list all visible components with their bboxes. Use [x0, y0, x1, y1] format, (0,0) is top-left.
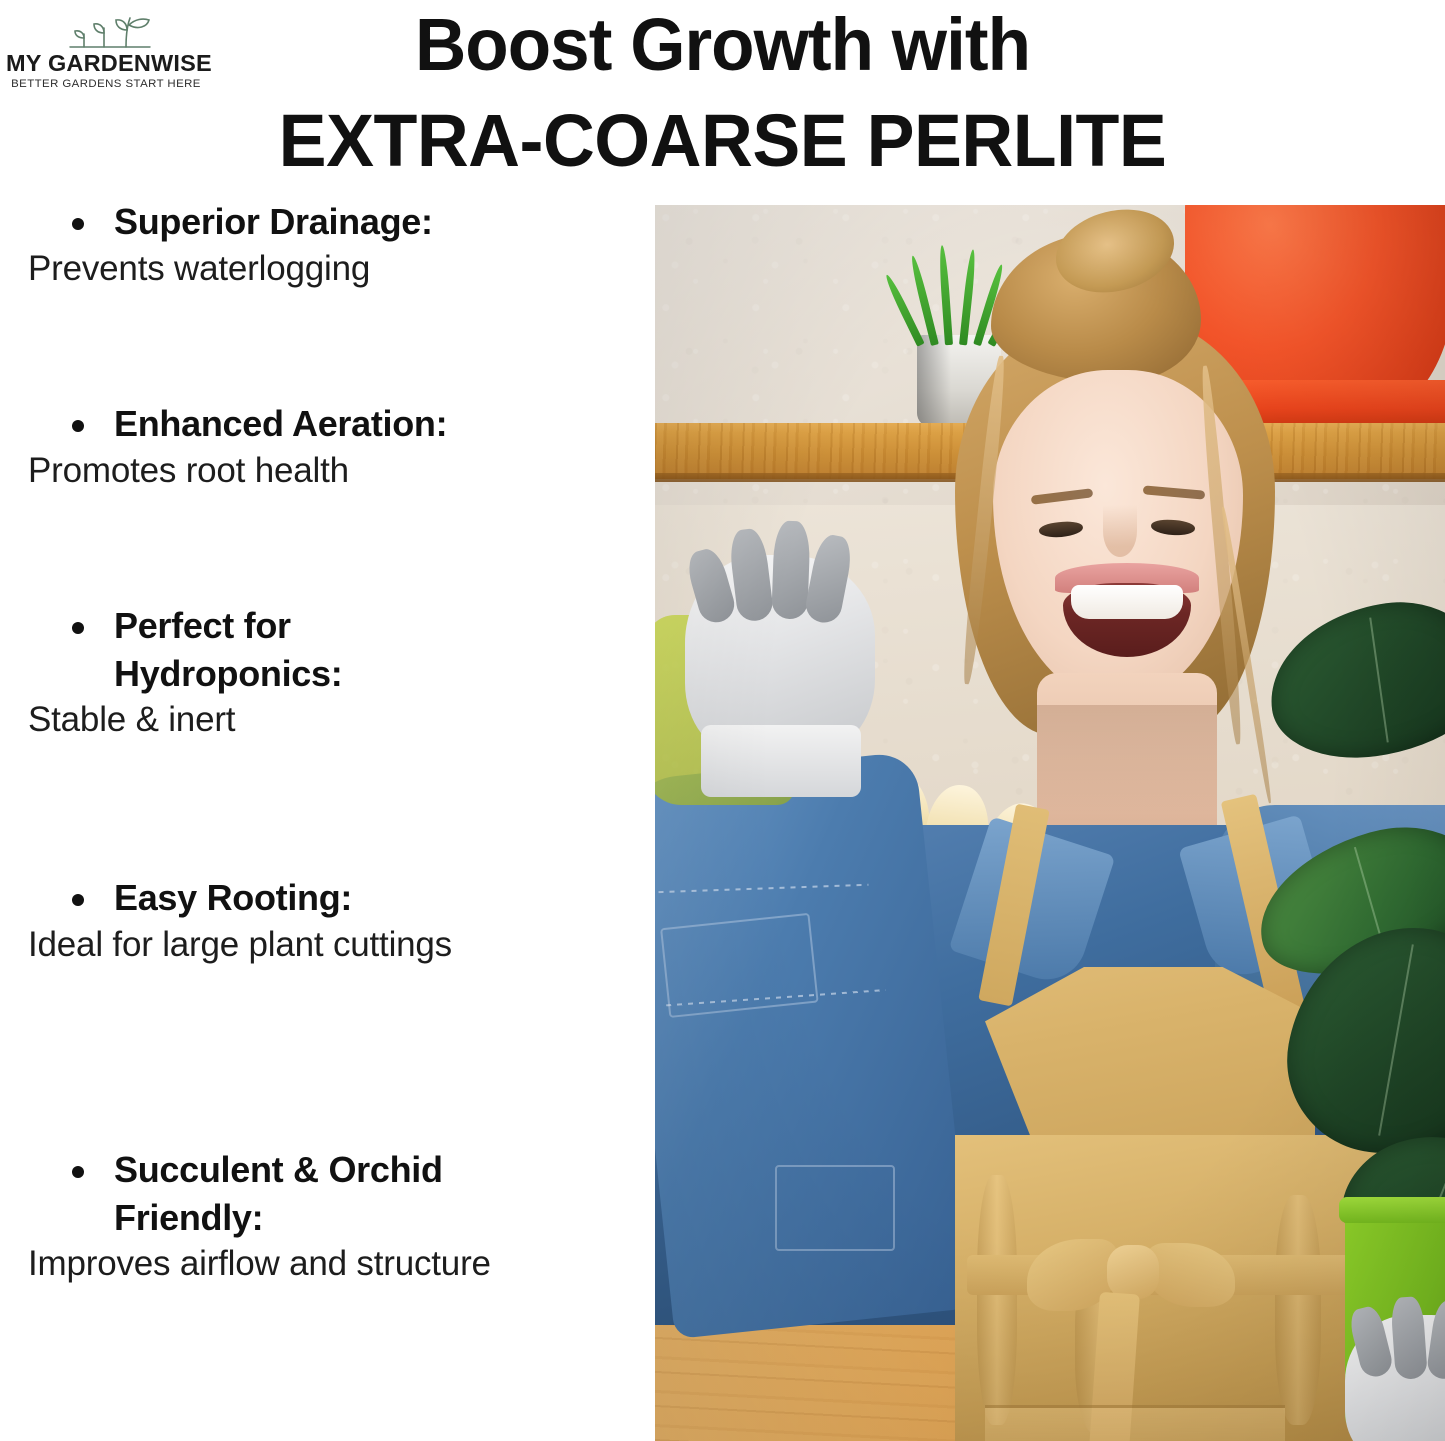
benefit-heading-text: Enhanced Aeration: [80, 400, 650, 448]
list-item: Enhanced Aeration: Promotes root health [0, 400, 650, 494]
benefit-description: Ideal for large plant cuttings [0, 922, 650, 969]
benefit-description: Prevents waterlogging [0, 246, 650, 293]
benefit-heading: Succulent & Orchid Friendly: [0, 1146, 650, 1241]
photo-vignette [655, 205, 1445, 1441]
product-lifestyle-photo [655, 205, 1445, 1441]
benefit-heading-text: Succulent & Orchid Friendly: [80, 1146, 580, 1241]
benefit-description: Promotes root health [0, 448, 650, 495]
benefit-heading: Perfect for Hydroponics: [0, 602, 650, 697]
infographic-page: MY GARDENWISE BETTER GARDENS START HERE … [0, 0, 1445, 1441]
benefit-heading-text: Superior Drainage: [80, 198, 650, 246]
list-item: Perfect for Hydroponics: Stable & inert [0, 602, 650, 744]
benefit-heading: Easy Rooting: [0, 874, 650, 922]
benefit-description: Improves airflow and structure [0, 1241, 650, 1288]
list-item: Easy Rooting: Ideal for large plant cutt… [0, 874, 650, 968]
list-item: Succulent & Orchid Friendly: Improves ai… [0, 1146, 650, 1288]
benefit-description: Stable & inert [0, 697, 650, 744]
benefit-heading: Enhanced Aeration: [0, 400, 650, 448]
benefit-heading-text: Perfect for Hydroponics: [80, 602, 410, 697]
benefit-heading-text: Easy Rooting: [80, 874, 650, 922]
benefit-heading: Superior Drainage: [0, 198, 650, 246]
headline-line-1: Boost Growth with [29, 8, 1416, 82]
headline-line-2: EXTRA-COARSE PERLITE [22, 104, 1424, 178]
list-item: Superior Drainage: Prevents waterlogging [0, 198, 650, 292]
